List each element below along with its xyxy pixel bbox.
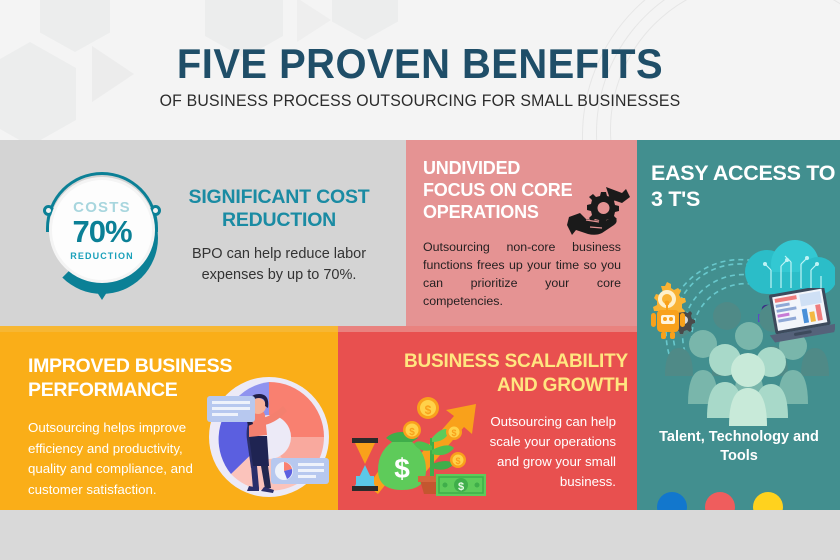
cloud-icon	[745, 240, 835, 295]
panel-title-three-ts: EASY ACCESS TO 3 T'S	[651, 160, 836, 212]
panel-scalability: BUSINESS SCALABILITY AND GROWTH Outsourc…	[338, 332, 637, 510]
svg-text:$: $	[451, 428, 456, 438]
svg-text:$: $	[394, 453, 410, 484]
svg-text:$: $	[409, 427, 415, 438]
donut-chart-illustration	[205, 374, 333, 500]
svg-text:$: $	[455, 456, 460, 466]
footer-bar: unitycommunications UNIFYING TECHNOLOGY	[0, 510, 840, 560]
gauge-label-reduction: REDUCTION	[70, 251, 133, 261]
panel-body-cost-reduction: BPO can help reduce labor expenses by up…	[168, 244, 390, 285]
callout-top	[207, 396, 255, 422]
callout-bottom	[271, 458, 329, 484]
color-dots-group	[637, 492, 840, 510]
gauge-pin	[88, 278, 116, 300]
panel-performance: IMPROVED BUSINESS PERFORMANCE Outsourcin…	[0, 332, 338, 510]
laptop-icon	[763, 288, 835, 346]
robot-gear-icon	[639, 282, 701, 340]
gauge-disc: COSTS 70% REDUCTION	[52, 180, 152, 280]
panel-caption-three-ts: Talent, Technology and Tools	[645, 428, 833, 467]
panel-cost-reduction: COSTS 70% REDUCTION SIGNIFICANT COST RED…	[0, 140, 406, 330]
panel-title-core-focus: UNDIVIDED FOCUS ON CORE OPERATIONS	[423, 158, 583, 224]
panel-title-cost-reduction: SIGNIFICANT COST REDUCTION	[168, 186, 390, 232]
infographic-page: FIVE PROVEN BENEFITS OF BUSINESS PROCESS…	[0, 0, 840, 560]
svg-text:$: $	[458, 481, 464, 493]
page-title: FIVE PROVEN BENEFITS	[21, 40, 819, 88]
banknote-icon: $	[436, 474, 486, 496]
gauge-knob-left	[43, 205, 54, 216]
gauge-value: 70%	[72, 216, 131, 249]
gauge-knob-right	[150, 205, 161, 216]
header-banner: FIVE PROVEN BENEFITS OF BUSINESS PROCESS…	[0, 0, 840, 140]
panel-body-performance: Outsourcing helps improve efficiency and…	[28, 418, 200, 500]
page-subtitle: OF BUSINESS PROCESS OUTSOURCING FOR SMAL…	[17, 92, 823, 111]
growth-money-illustration: $ $ $ $ $	[350, 390, 490, 500]
svg-text:$: $	[425, 403, 432, 417]
panel-body-scalability: Outsourcing can help scale your operatio…	[476, 412, 616, 492]
panel-body-core-focus: Outsourcing non-core business functions …	[423, 238, 621, 310]
decorative-hexagon	[332, 0, 398, 40]
panel-three-ts: EASY ACCESS TO 3 T'S	[637, 140, 840, 510]
panel-core-focus: UNDIVIDED FOCUS ON CORE OPERATIONS Outso…	[406, 140, 637, 330]
gear-in-hands-icon	[566, 183, 632, 239]
decorative-triangle	[297, 0, 331, 42]
cost-gauge-icon: COSTS 70% REDUCTION	[38, 166, 166, 308]
